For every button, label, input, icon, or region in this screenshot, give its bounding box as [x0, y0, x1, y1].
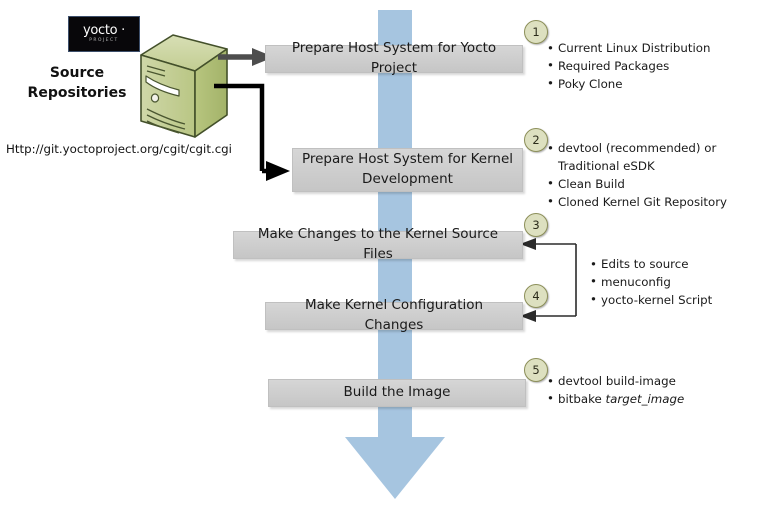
note-item: Cloned Kernel Git Repository [558, 194, 763, 212]
note-item: menuconfig [601, 274, 763, 292]
note-item: Current Linux Distribution [558, 40, 760, 58]
note-item: Clean Build [558, 176, 763, 194]
note-item: bitbake target_image [558, 391, 760, 409]
process-box-step-3[interactable]: Make Changes to the Kernel Source Files [233, 231, 523, 259]
note-item: devtool build-image [558, 373, 760, 391]
step-number-3: 3 [524, 213, 548, 237]
source-repositories-url: Http://git.yoctoproject.org/cgit/cgit.cg… [6, 142, 232, 156]
note-item: yocto-kernel Script [601, 292, 763, 310]
step-number-5: 5 [524, 358, 548, 382]
note-item: Required Packages [558, 58, 760, 76]
process-box-step-4[interactable]: Make Kernel Configuration Changes [265, 302, 523, 330]
logo-wordmark: yocto · [83, 24, 125, 37]
connector-server-to-step2 [214, 78, 292, 182]
process-box-step-5[interactable]: Build the Image [268, 379, 526, 407]
step-number-2: 2 [524, 128, 548, 152]
process-box-step-2[interactable]: Prepare Host System for Kernel Developme… [292, 148, 523, 192]
notes-step-1: Current Linux Distribution Required Pack… [545, 40, 760, 94]
main-flow-arrow-head [345, 437, 445, 499]
note-item: devtool (recommended) or Traditional eSD… [558, 140, 763, 176]
step-number-1: 1 [524, 20, 548, 44]
note-argument: target_image [606, 392, 685, 406]
notes-step-2: devtool (recommended) or Traditional eSD… [545, 140, 763, 212]
yocto-project-logo: yocto · PROJECT [68, 16, 140, 52]
note-command: bitbake [558, 392, 606, 406]
workflow-diagram: yocto · PROJECT Source Repositories Http… [0, 0, 769, 517]
notes-step-5: devtool build-image bitbake target_image [545, 373, 760, 409]
source-repositories-label: Source Repositories [12, 63, 142, 104]
logo-subtitle: PROJECT [89, 39, 118, 43]
note-item: Edits to source [601, 256, 763, 274]
step-number-4: 4 [524, 284, 548, 308]
note-item: Poky Clone [558, 76, 760, 94]
notes-step-3-and-4: Edits to source menuconfig yocto-kernel … [588, 256, 763, 310]
process-box-step-1[interactable]: Prepare Host System for Yocto Project [265, 45, 523, 73]
connector-bracket-step3-step4 [518, 238, 584, 324]
